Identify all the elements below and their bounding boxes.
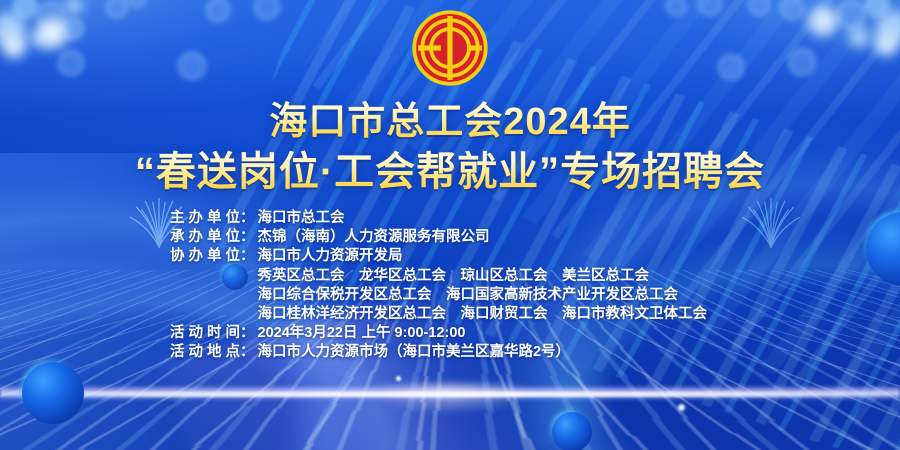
info-row-separator: ：	[240, 343, 258, 362]
info-row-separator: ：	[240, 247, 258, 266]
info-row-separator: ：	[240, 209, 258, 228]
bokeh-dot	[808, 6, 838, 36]
poster-title: 海口市总工会2024年 “春送岗位·工会帮就业”专场招聘会	[0, 100, 900, 196]
title-line-1: 海口市总工会2024年	[0, 100, 900, 145]
info-row: 协办单位：海口综合保税开发区总工会 海口国家高新技术产业开发区总工会	[170, 286, 730, 305]
bokeh-dot	[12, 0, 38, 20]
spark-dot	[396, 376, 401, 381]
info-row-label: 活动时间	[170, 324, 240, 343]
spark-dot	[678, 404, 685, 411]
info-row-value: 2024年3月22日 上午 9:00-12:00	[258, 324, 731, 343]
glowing-sphere-center	[552, 412, 592, 450]
bokeh-dot	[178, 52, 206, 80]
bokeh-dot	[62, 18, 84, 40]
bokeh-dot	[666, 0, 686, 16]
info-row-value: 海口市人力资源市场（海口市美兰区嘉华路2号）	[258, 343, 731, 362]
info-row-value: 海口桂林洋经济开发区总工会 海口财贸工会 海口市教科文卫体工会	[258, 305, 731, 324]
bokeh-dot	[788, 48, 816, 76]
info-row: 承办单位：杰锦（海南）人力资源服务有限公司	[170, 228, 730, 247]
info-row: 协办单位：秀英区总工会 龙华区总工会 琼山区总工会 美兰区总工会	[170, 267, 730, 286]
info-row-label: 承办单位	[170, 228, 240, 247]
bokeh-dot	[58, 50, 84, 76]
acftu-union-emblem-icon	[412, 10, 488, 86]
info-row-value: 海口市人力资源开发局	[258, 247, 731, 266]
bokeh-dot	[718, 54, 744, 80]
bokeh-dot	[254, 0, 280, 20]
info-row-separator: ：	[240, 324, 258, 343]
bokeh-dot	[698, 0, 722, 16]
bokeh-dot	[2, 34, 26, 58]
bokeh-dot	[780, 0, 804, 20]
bokeh-dot	[864, 0, 890, 18]
poster-info-block: 主办单位：海口市总工会承办单位：杰锦（海南）人力资源服务有限公司协办单位：海口市…	[0, 209, 900, 363]
glowing-sphere-left	[22, 362, 84, 424]
bokeh-dot	[206, 0, 230, 22]
bokeh-dot	[66, 0, 82, 14]
recruitment-poster: 海口市总工会2024年 “春送岗位·工会帮就业”专场招聘会 主办单位：海口市总工…	[0, 0, 900, 450]
info-row-value: 秀英区总工会 龙华区总工会 琼山区总工会 美兰区总工会	[258, 267, 731, 286]
bokeh-dot	[836, 0, 866, 30]
info-row-label: 协办单位	[170, 247, 240, 266]
info-row: 活动时间：2024年3月22日 上午 9:00-12:00	[170, 324, 730, 343]
info-row-label: 主办单位	[170, 209, 240, 228]
info-row-label: 活动地点	[170, 343, 240, 362]
info-row: 协办单位：海口桂林洋经济开发区总工会 海口财贸工会 海口市教科文卫体工会	[170, 305, 730, 324]
bokeh-dot	[36, 2, 66, 32]
bokeh-dot	[30, 28, 50, 48]
info-row-value: 杰锦（海南）人力资源服务有限公司	[258, 228, 731, 247]
bokeh-dot	[874, 32, 898, 56]
title-line-2: “春送岗位·工会帮就业”专场招聘会	[0, 149, 900, 196]
info-row-value: 海口综合保税开发区总工会 海口国家高新技术产业开发区总工会	[258, 286, 731, 305]
info-row: 协办单位：海口市人力资源开发局	[170, 247, 730, 266]
info-row: 主办单位：海口市总工会	[170, 209, 730, 228]
info-row: 活动地点：海口市人力资源市场（海口市美兰区嘉华路2号）	[170, 343, 730, 362]
info-row-separator: ：	[240, 228, 258, 247]
bokeh-dot	[748, 0, 770, 16]
bokeh-dot	[128, 0, 146, 8]
bokeh-dot	[0, 12, 26, 46]
bokeh-dot	[106, 0, 128, 18]
bokeh-dot	[876, 10, 900, 44]
bokeh-dot	[848, 26, 870, 48]
bokeh-dot	[38, 18, 68, 48]
info-row-value: 海口市总工会	[258, 209, 731, 228]
